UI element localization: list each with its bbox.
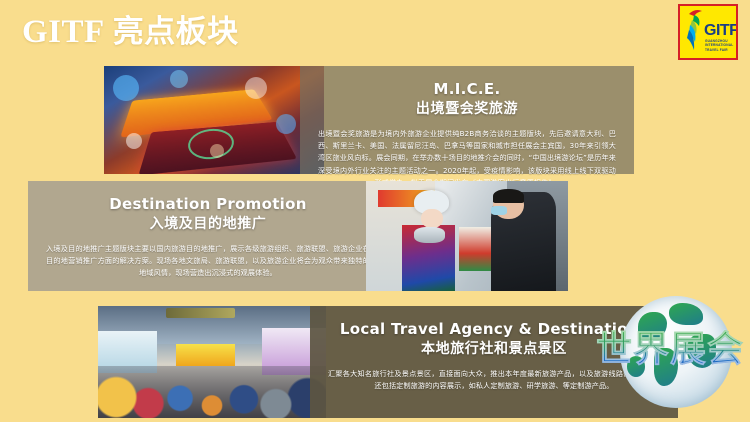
gitf-bird-icon <box>685 8 705 52</box>
gitf-subtitle: GUANGZHOU INTERNATIONAL TRAVEL FAIR <box>705 39 738 52</box>
card-mice-title-en: M.I.C.E. <box>318 80 616 99</box>
card-mice: M.I.C.E. 出境暨会奖旅游 出境暨会奖旅游是为境内外旅游企业提供纯B2B商… <box>104 66 634 174</box>
page-title-cjk: 亮点板块 <box>113 14 239 50</box>
card-local-travel-title-en: Local Travel Agency & Destinations <box>328 320 660 339</box>
card-mice-photo <box>104 66 324 174</box>
gitf-wordmark: GITF <box>704 22 738 40</box>
card-local-travel-title-zh: 本地旅行社和景点景区 <box>328 339 660 359</box>
card-destination-panel: Destination Promotion 入境及目的地推广 入境及目的地推广主… <box>28 181 388 291</box>
gitf-logo: GITF GUANGZHOU INTERNATIONAL TRAVEL FAIR <box>678 4 738 60</box>
card-local-travel-photo <box>98 306 326 418</box>
card-destination: Destination Promotion 入境及目的地推广 入境及目的地推广主… <box>28 181 568 291</box>
slide-canvas: GITF亮点板块 GITF GUANGZHOU INTERNATIONAL TR… <box>0 0 750 422</box>
card-destination-title-zh: 入境及目的地推广 <box>46 214 370 234</box>
page-title-latin: GITF <box>22 14 105 50</box>
page-title: GITF亮点板块 <box>22 12 239 52</box>
card-local-travel: Local Travel Agency & Destinations 本地旅行社… <box>98 306 678 418</box>
card-destination-title-en: Destination Promotion <box>46 195 370 214</box>
card-mice-title-zh: 出境暨会奖旅游 <box>318 99 616 119</box>
card-destination-photo <box>366 181 568 291</box>
card-local-travel-panel: Local Travel Agency & Destinations 本地旅行社… <box>310 306 678 418</box>
card-local-travel-body: 汇聚各大知名旅行社及景点景区，直接面向大众，推出本年度最新旅游产品，以及旅游线路… <box>328 368 660 392</box>
card-mice-body: 出境暨会奖旅游是为境内外旅游企业提供纯B2B商务洽谈的主题版块，先后邀请意大利、… <box>318 128 616 189</box>
card-mice-panel: M.I.C.E. 出境暨会奖旅游 出境暨会奖旅游是为境内外旅游企业提供纯B2B商… <box>300 66 634 174</box>
card-destination-body: 入境及目的地推广主题版块主要以国内旅游目的地推广，展示各级旅游组织、旅游联盟、旅… <box>46 243 370 280</box>
